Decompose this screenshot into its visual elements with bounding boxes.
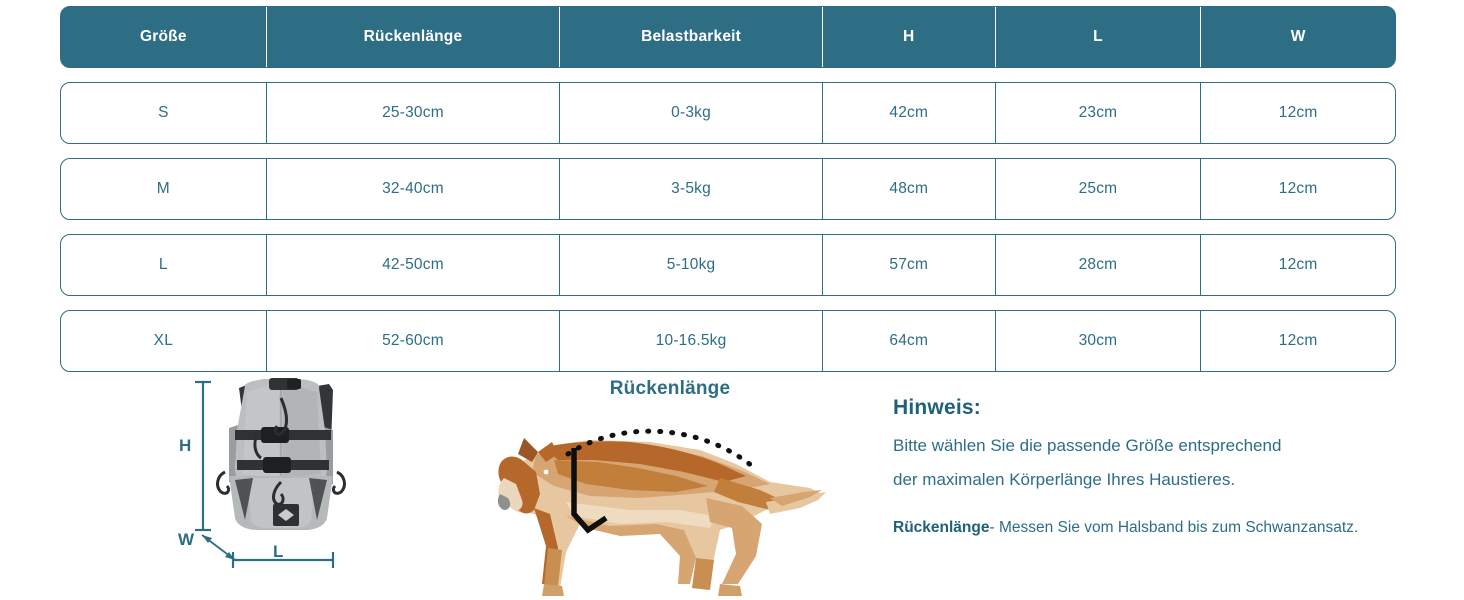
- cell-back-length: 52-60cm: [267, 311, 561, 371]
- dimension-label-h: H: [179, 436, 191, 456]
- cell-w: 12cm: [1201, 83, 1395, 143]
- cell-w: 12cm: [1201, 311, 1395, 371]
- cell-back-length: 32-40cm: [267, 159, 561, 219]
- note-heading: Hinweis:: [893, 396, 1413, 420]
- note-block: Hinweis: Bitte wählen Sie die passende G…: [893, 396, 1413, 537]
- table-row: XL 52-60cm 10-16.5kg 64cm 30cm 12cm: [60, 310, 1396, 372]
- backpack-dimension-figure: H W L: [165, 370, 395, 595]
- cell-size: S: [61, 83, 267, 143]
- size-chart-table: Größe Rückenlänge Belastbarkeit H L W S …: [60, 6, 1396, 386]
- cell-load: 0-3kg: [560, 83, 823, 143]
- cell-h: 48cm: [823, 159, 996, 219]
- cell-back-length: 25-30cm: [267, 83, 561, 143]
- cell-l: 30cm: [996, 311, 1202, 371]
- table-row: L 42-50cm 5-10kg 57cm 28cm 12cm: [60, 234, 1396, 296]
- dimension-label-l: L: [273, 542, 283, 562]
- column-header-w: W: [1201, 7, 1395, 67]
- cell-load: 5-10kg: [560, 235, 823, 295]
- cell-l: 28cm: [996, 235, 1202, 295]
- cell-load: 3-5kg: [560, 159, 823, 219]
- cell-w: 12cm: [1201, 159, 1395, 219]
- table-row: S 25-30cm 0-3kg 42cm 23cm 12cm: [60, 82, 1396, 144]
- column-header-back-length: Rückenlänge: [267, 7, 561, 67]
- dimension-label-w: W: [178, 530, 194, 550]
- cell-size: M: [61, 159, 267, 219]
- cell-size: XL: [61, 311, 267, 371]
- note-line-1: Bitte wählen Sie die passende Größe ents…: [893, 429, 1413, 463]
- column-header-h: H: [823, 7, 996, 67]
- note-footer-text: - Messen Sie vom Halsband bis zum Schwan…: [989, 519, 1358, 536]
- cell-load: 10-16.5kg: [560, 311, 823, 371]
- cell-h: 57cm: [823, 235, 996, 295]
- note-line-2: der maximalen Körperlänge Ihres Haustier…: [893, 463, 1413, 497]
- column-header-l: L: [996, 7, 1202, 67]
- cell-h: 64cm: [823, 311, 996, 371]
- table-row: M 32-40cm 3-5kg 48cm 25cm 12cm: [60, 158, 1396, 220]
- cell-l: 23cm: [996, 83, 1202, 143]
- dog-measurement-figure: Rückenlänge: [470, 370, 870, 595]
- dog-diagram-title: Rückenlänge: [470, 378, 870, 400]
- note-footer: Rückenlänge- Messen Sie vom Halsband bis…: [893, 519, 1413, 537]
- note-footer-term: Rückenlänge: [893, 519, 989, 536]
- cell-back-length: 42-50cm: [267, 235, 561, 295]
- table-header-row: Größe Rückenlänge Belastbarkeit H L W: [60, 6, 1396, 68]
- cell-w: 12cm: [1201, 235, 1395, 295]
- lower-info-section: H W L Rückenlänge: [0, 370, 1464, 600]
- cell-size: L: [61, 235, 267, 295]
- column-header-load: Belastbarkeit: [560, 7, 823, 67]
- cell-h: 42cm: [823, 83, 996, 143]
- cell-l: 25cm: [996, 159, 1202, 219]
- dog-illustration: [470, 398, 870, 598]
- column-header-size: Größe: [61, 7, 267, 67]
